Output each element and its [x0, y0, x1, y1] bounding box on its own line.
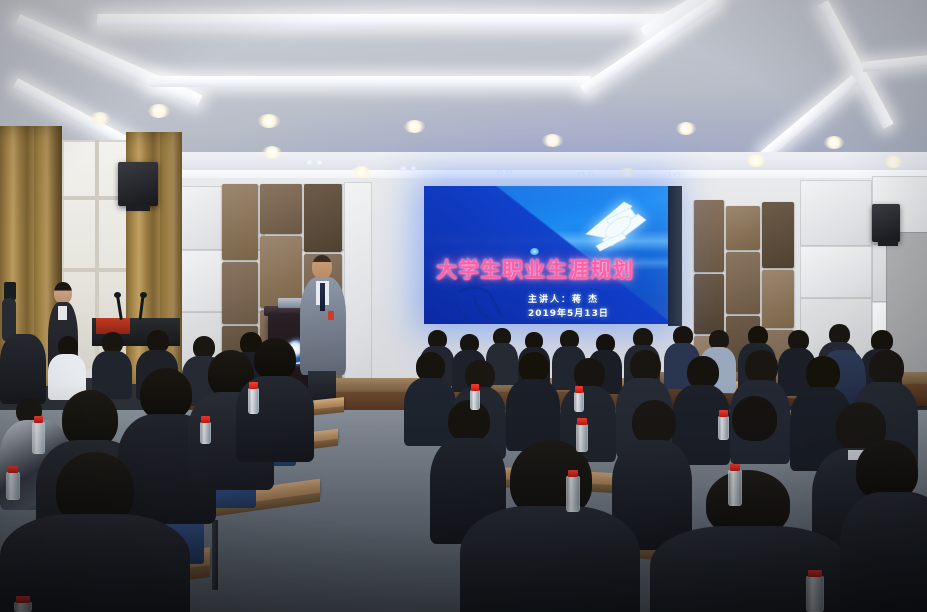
ceiling-spot: [578, 172, 585, 177]
ceiling-downlight: [746, 154, 766, 167]
water-bottle[interactable]: [6, 466, 20, 500]
ceiling-downlight: [262, 146, 282, 159]
bottle-cap: [730, 464, 741, 471]
slide-date-line: 2019年5月13日: [528, 306, 609, 319]
ceiling-spot: [664, 172, 671, 177]
ceiling-downlight: [352, 166, 371, 178]
audience-head: [745, 350, 778, 384]
bottle-body: [14, 602, 32, 612]
bottle-cap: [568, 470, 579, 477]
bottle-cap: [471, 384, 479, 391]
acoustic-panel: [762, 202, 794, 268]
bottle-cap: [575, 386, 583, 393]
acoustic-panel: [726, 252, 760, 314]
bottle-cap: [201, 416, 209, 423]
airplane-icon: [566, 194, 658, 260]
ceiling-downlight: [676, 122, 696, 135]
seated-audience: [840, 440, 927, 612]
ceiling-light-strip: [97, 14, 668, 27]
ceiling-spot: [588, 172, 595, 177]
staff-head: [54, 282, 72, 304]
audience-head: [806, 356, 840, 391]
bottle-cap: [34, 416, 44, 423]
acoustic-panel: [260, 184, 302, 234]
water-bottle[interactable]: [574, 386, 584, 412]
seated-audience: [460, 440, 640, 612]
bottle-cap: [577, 418, 586, 425]
water-bottle[interactable]: [576, 418, 588, 452]
bottle-body: [576, 424, 588, 452]
ceiling-downlight: [542, 134, 563, 147]
desk-leg: [212, 520, 218, 590]
seated-audience: [48, 336, 86, 396]
audience-head: [856, 440, 918, 500]
bottle-cap: [808, 570, 822, 577]
lecture-hall-scene: 大学生职业生涯规划 主讲人：蒋 杰 2019年5月13日: [0, 0, 927, 612]
water-bottle[interactable]: [806, 570, 824, 612]
acoustic-panel: [304, 184, 342, 252]
bottle-body: [566, 476, 580, 512]
audience-head: [632, 400, 676, 444]
acoustic-panel: [694, 200, 724, 272]
staff-collar: [58, 306, 67, 320]
bottle-body: [248, 388, 259, 414]
gooseneck-microphone-head: [114, 292, 121, 298]
ceiling-spot: [400, 166, 407, 171]
gooseneck-microphone-head: [140, 292, 147, 298]
bottle-body: [470, 390, 480, 410]
audience-head: [448, 400, 490, 442]
wall-pilaster: [344, 182, 372, 380]
ceiling-downlight: [884, 156, 903, 168]
ceiling-downlight: [258, 114, 280, 128]
water-bottle[interactable]: [248, 382, 259, 414]
ceiling-spot: [306, 160, 313, 165]
bottle-body: [718, 416, 729, 440]
audience-torso: [460, 506, 640, 612]
wall-marble-panel: [800, 246, 872, 298]
slide-presenter-line: 主讲人：蒋 杰: [528, 292, 599, 305]
ceiling-spot: [674, 172, 681, 177]
audience-photographer: [0, 282, 46, 402]
ceiling-downlight: [90, 112, 110, 125]
bottle-body: [32, 422, 45, 454]
seated-audience: [0, 452, 190, 612]
acoustic-panel: [222, 184, 258, 260]
ceiling-spot: [496, 170, 503, 175]
ceiling-spot: [316, 160, 323, 165]
bottle-body: [6, 472, 20, 500]
bottle-body: [728, 470, 742, 506]
slide-title: 大学生职业生涯规划: [436, 254, 634, 284]
ceiling-downlight: [824, 136, 844, 149]
water-bottle[interactable]: [200, 416, 211, 444]
wall-loudspeaker: [118, 162, 158, 206]
acoustic-panel: [694, 274, 724, 334]
bottle-body: [574, 392, 584, 412]
bottle-body: [806, 576, 824, 612]
bottle-cap: [719, 410, 727, 417]
acoustic-panel: [222, 262, 258, 324]
audience-head: [869, 350, 904, 386]
ceiling-downlight: [404, 120, 425, 133]
presenter-head: [312, 255, 332, 279]
presenter-tie: [320, 283, 325, 311]
ceiling-spot: [506, 170, 513, 175]
loudspeaker-bracket: [878, 240, 898, 246]
water-bottle[interactable]: [14, 596, 32, 612]
acoustic-panel: [762, 270, 794, 328]
led-presentation-screen[interactable]: 大学生职业生涯规划 主讲人：蒋 杰 2019年5月13日: [424, 186, 668, 324]
ceiling-downlight: [148, 104, 170, 118]
acoustic-panel: [726, 206, 760, 250]
water-bottle[interactable]: [32, 416, 45, 454]
water-bottle[interactable]: [566, 470, 580, 512]
seated-audience: [506, 352, 560, 448]
bottle-cap: [16, 596, 30, 603]
ceiling-light-strip: [150, 76, 591, 87]
audience-torso: [840, 492, 927, 612]
loudspeaker-bracket: [126, 204, 150, 211]
bottle-cap: [249, 382, 257, 389]
bottle-cap: [8, 466, 19, 473]
presenter-badge: [328, 311, 334, 320]
wall-marble-panel: [800, 180, 872, 246]
water-bottle[interactable]: [470, 384, 480, 410]
wall-loudspeaker: [872, 204, 900, 242]
water-bottle[interactable]: [718, 410, 729, 440]
bottle-body: [200, 422, 211, 444]
screen-frame-shadow: [668, 186, 682, 326]
audience-head: [732, 396, 777, 441]
audience-head: [140, 368, 192, 420]
audience-head: [254, 338, 296, 380]
water-bottle[interactable]: [728, 464, 742, 506]
ceiling-spot: [410, 166, 417, 171]
